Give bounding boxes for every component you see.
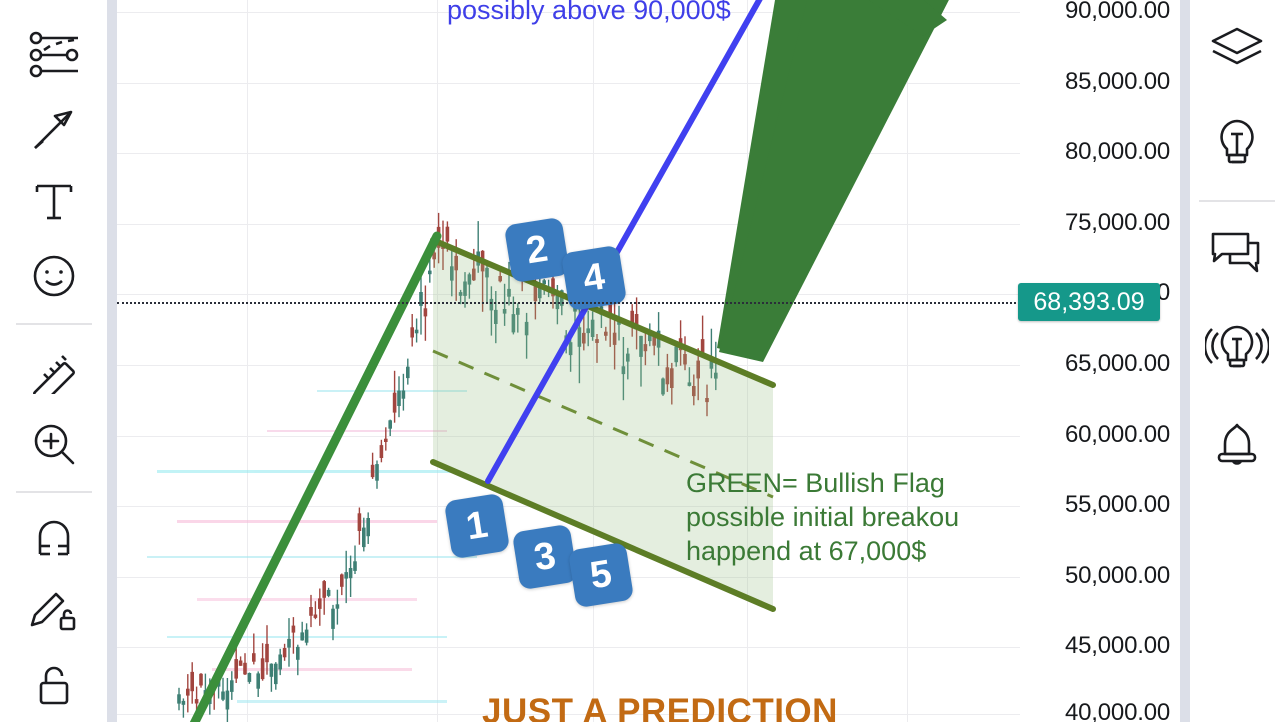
candle-body xyxy=(683,354,687,365)
emoji-tool-icon[interactable] xyxy=(18,239,90,313)
candle-body xyxy=(696,361,700,379)
candle-body xyxy=(270,664,274,677)
candle-body xyxy=(397,391,401,406)
candle-body xyxy=(542,280,546,284)
candle-body xyxy=(525,322,529,335)
candle-body xyxy=(595,339,599,343)
candle-body xyxy=(639,336,643,357)
candle-body xyxy=(648,334,652,341)
bell-icon[interactable] xyxy=(1197,398,1277,494)
candle-body xyxy=(569,342,573,355)
wave-badge-2[interactable]: 2 xyxy=(504,217,570,283)
gridline-horizontal xyxy=(117,153,1020,154)
text-tool-icon[interactable] xyxy=(18,166,90,240)
candle-body xyxy=(274,664,278,684)
big-bullish-arrow xyxy=(717,0,955,358)
candle-body xyxy=(485,268,489,278)
candle-body xyxy=(256,673,260,688)
candle-body xyxy=(331,609,335,629)
candle-body xyxy=(234,659,238,679)
candle-body xyxy=(221,692,225,700)
candle-body xyxy=(410,327,414,337)
wave-badge-3[interactable]: 3 xyxy=(512,524,578,590)
price-axis-tick: 40,000.00 xyxy=(1020,699,1170,722)
candle-body xyxy=(217,673,221,687)
candle-body xyxy=(212,682,216,687)
gridline-vertical xyxy=(747,0,748,722)
candle-body xyxy=(472,269,476,281)
measure-tool-icon[interactable] xyxy=(18,333,90,407)
candle-body xyxy=(441,244,445,249)
candle-body xyxy=(692,386,696,396)
candle-body xyxy=(432,253,436,260)
candle-body xyxy=(538,284,542,298)
candle-body xyxy=(261,658,265,679)
price-axis-tick: 60,000.00 xyxy=(1020,421,1170,449)
candle-body xyxy=(318,598,322,609)
gridline-vertical xyxy=(437,0,438,722)
arrow-tool-icon[interactable] xyxy=(18,92,90,166)
wave-badge-5[interactable]: 5 xyxy=(568,542,634,608)
gridline-horizontal xyxy=(117,436,1020,437)
candle-body xyxy=(454,256,458,270)
right-sidebar xyxy=(1190,0,1284,722)
candle-body xyxy=(630,311,634,323)
candle-body xyxy=(644,344,648,351)
candle-body xyxy=(490,299,494,311)
candle-body xyxy=(503,309,507,314)
candle-body xyxy=(314,615,318,618)
candle-body xyxy=(701,339,705,353)
right-sidebar-divider xyxy=(1180,0,1190,722)
chart-drawings xyxy=(117,0,1020,722)
candle-body xyxy=(710,358,714,369)
candle-body xyxy=(512,314,516,332)
candle-body xyxy=(481,251,485,272)
candle-body xyxy=(626,354,630,362)
zoom-in-tool-icon[interactable] xyxy=(18,407,90,481)
candle-body xyxy=(622,366,626,374)
layers-icon[interactable] xyxy=(1197,0,1277,96)
candle-body xyxy=(300,632,304,640)
gridline-vertical xyxy=(593,0,594,722)
candle-body xyxy=(322,581,326,598)
gridline-horizontal xyxy=(117,83,1020,84)
candle-body xyxy=(617,321,621,325)
trend-line-tool-icon[interactable] xyxy=(18,18,90,92)
candle-body xyxy=(305,630,309,643)
candle-body xyxy=(498,276,502,281)
drawing-toolbar xyxy=(0,0,107,722)
candle-body xyxy=(309,607,313,616)
candle-body xyxy=(177,694,181,703)
candle-body xyxy=(635,314,639,326)
gridline-horizontal xyxy=(117,365,1020,366)
candle-body xyxy=(292,626,296,633)
rising-support-trendline xyxy=(176,236,437,722)
candle-body xyxy=(388,420,392,428)
price-axis-tick: 90,000.00 xyxy=(1020,0,1170,25)
candle-body xyxy=(652,335,656,346)
candle-body xyxy=(564,335,568,343)
candle-body xyxy=(714,373,718,379)
sidebar-divider-1 xyxy=(1199,200,1275,202)
candle-body xyxy=(353,561,357,571)
big-bullish-arrow-head xyxy=(785,0,947,36)
price-axis-tick: 50,000.00 xyxy=(1020,562,1170,590)
toolbar-divider-2 xyxy=(16,491,92,493)
candle-body xyxy=(239,661,243,666)
big-bullish-arrow-body xyxy=(719,0,953,362)
candle-body xyxy=(679,338,683,350)
candle-body xyxy=(428,271,432,275)
candle-body xyxy=(226,691,230,710)
candle-body xyxy=(476,252,480,266)
candle-body xyxy=(252,653,256,662)
candle-body xyxy=(424,308,428,316)
candle-body xyxy=(362,528,366,548)
gridline-horizontal xyxy=(117,647,1020,648)
price-axis-tick: 45,000.00 xyxy=(1020,632,1170,660)
green-note-line2: possible initial breakou xyxy=(686,500,959,534)
magnet-tool-icon[interactable] xyxy=(18,501,90,575)
price-axis-tick: 65,000.00 xyxy=(1020,350,1170,378)
candle-body xyxy=(358,513,362,531)
just-a-prediction-note[interactable]: JUST A PREDICTION xyxy=(482,692,838,722)
current-price-line xyxy=(117,302,1020,304)
candle-body xyxy=(204,690,208,695)
price-axis-tick: 80,000.00 xyxy=(1020,138,1170,166)
candle-body xyxy=(327,590,331,596)
gridline-horizontal xyxy=(117,224,1020,225)
candle-body xyxy=(278,655,282,670)
chart-canvas[interactable]: possibly above 90,000$ GREEN= Bullish Fl… xyxy=(117,0,1020,722)
candle-body xyxy=(674,347,678,363)
candle-body xyxy=(494,310,498,324)
candle-body xyxy=(371,465,375,477)
toolbar-divider-1 xyxy=(16,323,92,325)
gridline-vertical xyxy=(247,0,248,722)
candle-body xyxy=(336,604,340,608)
price-axis-tick: 55,000.00 xyxy=(1020,491,1170,519)
candle-body xyxy=(283,648,287,657)
candle-body xyxy=(534,282,538,301)
candle-body xyxy=(705,398,709,402)
chart-application: possibly above 90,000$ GREEN= Bullish Fl… xyxy=(0,0,1284,722)
candle-body xyxy=(450,266,454,280)
candle-body xyxy=(384,439,388,442)
blue-prediction-note[interactable]: possibly above 90,000$ xyxy=(447,0,731,26)
price-axis[interactable]: 90,000.0085,000.0080,000.0075,000.0070,0… xyxy=(1020,0,1180,722)
candle-body xyxy=(402,391,406,399)
candle-body xyxy=(195,699,199,703)
lock-icon[interactable] xyxy=(18,648,90,722)
current-price-badge[interactable]: 68,393.09 xyxy=(1018,283,1160,321)
blue-note-text: possibly above 90,000$ xyxy=(447,0,731,25)
wave-badge-1[interactable]: 1 xyxy=(444,493,510,559)
candle-body xyxy=(516,308,520,315)
candle-body xyxy=(688,382,692,386)
candle-body xyxy=(666,367,670,384)
price-axis-tick: 85,000.00 xyxy=(1020,68,1170,96)
candle-body xyxy=(366,518,370,536)
candle-body xyxy=(547,286,551,289)
candle-body xyxy=(186,689,190,696)
candle-body xyxy=(375,464,379,481)
candlestick-series xyxy=(177,213,717,722)
candle-body xyxy=(380,445,384,458)
candle-body xyxy=(296,647,300,660)
candle-body xyxy=(507,289,511,297)
green-note-line1: GREEN= Bullish Flag xyxy=(686,466,959,500)
chat-bubbles-icon[interactable] xyxy=(1197,206,1277,302)
candle-body xyxy=(582,333,586,344)
candle-body xyxy=(613,333,617,345)
candle-body xyxy=(446,227,450,242)
candle-body xyxy=(406,367,410,378)
candle-body xyxy=(248,673,252,682)
candle-body xyxy=(230,680,234,692)
gridline-vertical xyxy=(907,0,908,722)
candle-body xyxy=(415,330,419,334)
green-note-line3: happend at 67,000$ xyxy=(686,534,959,568)
price-axis-tick: 75,000.00 xyxy=(1020,209,1170,237)
candle-body xyxy=(661,379,665,395)
lightbulb-icon[interactable] xyxy=(1197,96,1277,192)
current-price-value: 68,393.09 xyxy=(1033,288,1144,317)
candle-body xyxy=(657,331,661,348)
candle-body xyxy=(586,328,590,333)
candle-body xyxy=(578,327,582,347)
drawing-lock-icon[interactable] xyxy=(18,574,90,648)
candle-body xyxy=(393,393,397,413)
candle-body xyxy=(670,368,674,388)
candle-body xyxy=(604,332,608,336)
green-flag-note[interactable]: GREEN= Bullish Flag possible initial bre… xyxy=(686,466,959,568)
candle-body xyxy=(190,672,194,691)
orange-note-text: JUST A PREDICTION xyxy=(482,692,838,722)
candle-body xyxy=(199,674,203,686)
left-toolbar-divider xyxy=(107,0,117,722)
candle-body xyxy=(468,274,472,284)
candle-body xyxy=(182,701,186,705)
broadcast-idea-icon[interactable] xyxy=(1197,302,1277,398)
candle-body xyxy=(208,688,212,704)
candle-body xyxy=(600,306,604,315)
